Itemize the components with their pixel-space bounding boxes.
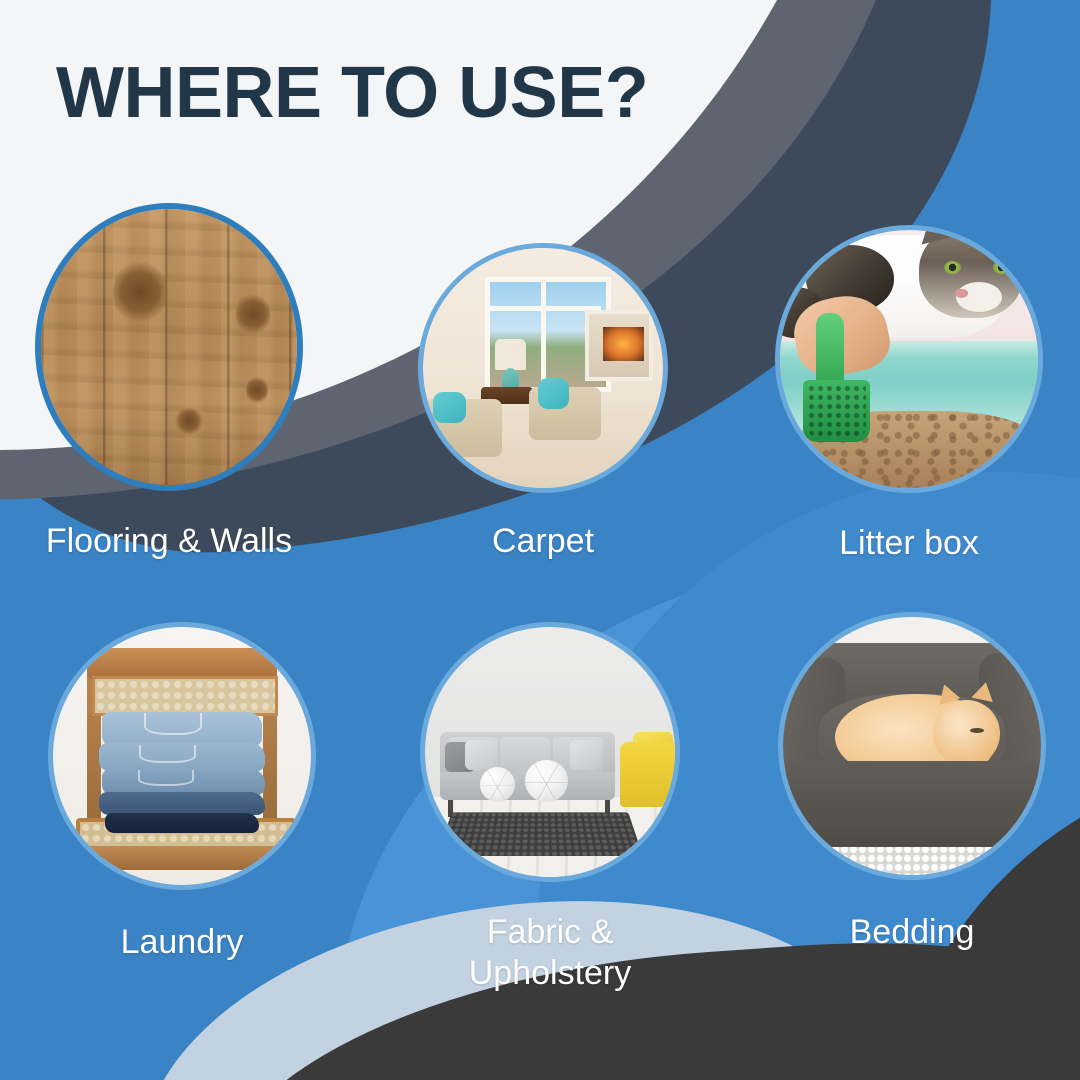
wood-planks-photo: [35, 203, 303, 491]
use-case-carpet[interactable]: Carpet: [418, 243, 668, 493]
laundry-photo: [48, 622, 316, 890]
where-to-use-infographic: WHERE TO USE? Flooring & Walls: [0, 0, 1080, 1080]
use-case-label: Carpet: [418, 521, 668, 562]
upholstery-photo: [420, 622, 680, 882]
use-case-bedding[interactable]: Bedding: [778, 612, 1046, 880]
use-case-fabric-upholstery[interactable]: Fabric & Upholstery: [420, 622, 680, 882]
use-case-laundry[interactable]: Laundry: [48, 622, 316, 890]
use-case-flooring-walls[interactable]: Flooring & Walls: [35, 203, 303, 491]
use-case-label: Bedding: [778, 912, 1046, 953]
use-case-grid: Flooring & Walls: [0, 0, 1080, 1080]
use-case-label: Fabric & Upholstery: [420, 912, 680, 995]
litter-box-photo: [775, 225, 1043, 493]
use-case-litter-box[interactable]: Litter box: [775, 225, 1043, 493]
living-room-photo: [418, 243, 668, 493]
use-case-label: Litter box: [775, 523, 1043, 564]
use-case-label: Flooring & Walls: [35, 521, 303, 562]
use-case-label: Laundry: [48, 922, 316, 963]
pet-bedding-photo: [778, 612, 1046, 880]
